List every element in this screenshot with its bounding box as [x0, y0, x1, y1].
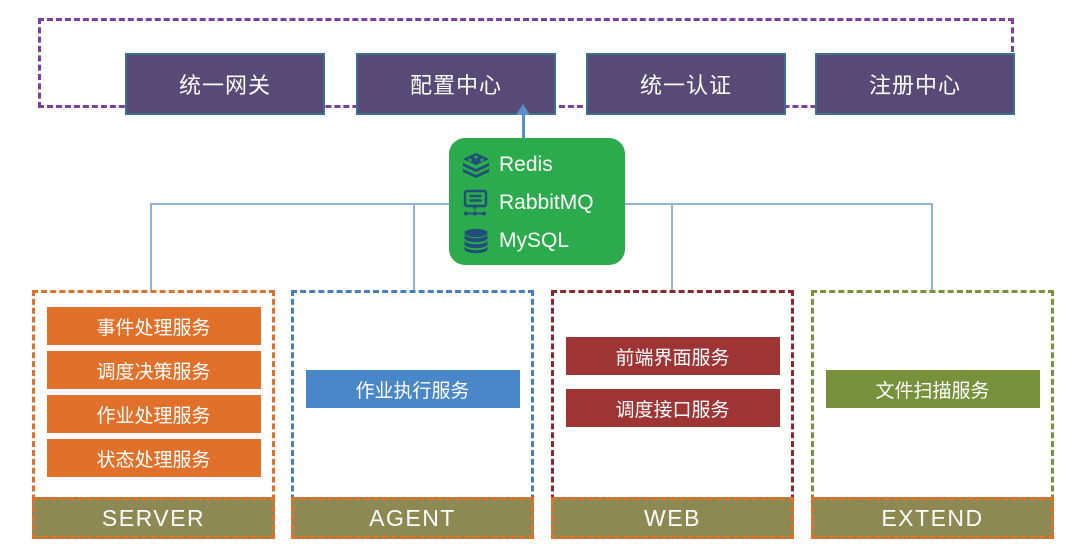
service-box[interactable]: 调度决策服务 [47, 351, 261, 389]
platform-box-unified-auth[interactable]: 统一认证 [586, 53, 786, 115]
platform-box-registry-center[interactable]: 注册中心 [815, 53, 1015, 115]
group-footer-label: EXTEND [881, 505, 983, 532]
group-footer-label: WEB [644, 505, 701, 532]
service-label: 事件处理服务 [96, 313, 210, 340]
service-label: 作业处理服务 [96, 401, 210, 428]
group-footer-agent: AGENT [291, 497, 534, 539]
service-label: 状态处理服务 [96, 445, 210, 472]
arrow-up-shaft [522, 110, 525, 138]
service-box[interactable]: 调度接口服务 [566, 389, 780, 427]
group-footer-web: WEB [551, 497, 794, 539]
service-label: 文件扫描服务 [875, 376, 989, 403]
platform-layer-frame: 统一网关 配置中心 统一认证 注册中心 [38, 18, 1014, 108]
platform-box-label: 统一认证 [640, 68, 732, 100]
group-server-services: 事件处理服务 调度决策服务 作业处理服务 状态处理服务 [35, 293, 272, 485]
connector-horizontal-left-inner [413, 203, 451, 205]
middleware-label-redis: Redis [499, 153, 553, 177]
middleware-box[interactable]: Redis [449, 138, 625, 265]
service-box[interactable]: 前端界面服务 [566, 337, 780, 375]
connector-vertical-extend [931, 203, 933, 291]
service-label: 调度接口服务 [615, 395, 729, 422]
service-label: 前端界面服务 [615, 343, 729, 370]
message-queue-icon [459, 187, 493, 219]
group-footer-server: SERVER [32, 497, 275, 539]
group-server[interactable]: 事件处理服务 调度决策服务 作业处理服务 状态处理服务 SERVER [32, 290, 275, 536]
group-footer-label: AGENT [369, 505, 456, 532]
platform-box-label: 配置中心 [410, 68, 502, 100]
connector-vertical-server [150, 203, 152, 291]
connector-vertical-web [671, 203, 673, 291]
group-footer-extend: EXTEND [811, 497, 1054, 539]
service-box[interactable]: 作业处理服务 [47, 395, 261, 433]
group-agent[interactable]: 作业执行服务 AGENT [291, 290, 534, 536]
service-box[interactable]: 文件扫描服务 [826, 370, 1040, 408]
middleware-item-redis: Redis [459, 147, 625, 183]
service-label: 调度决策服务 [96, 357, 210, 384]
group-extend[interactable]: 文件扫描服务 EXTEND [811, 290, 1054, 536]
service-box[interactable]: 事件处理服务 [47, 307, 261, 345]
service-label: 作业执行服务 [355, 376, 469, 403]
connector-horizontal-right [671, 203, 931, 205]
group-extend-services: 文件扫描服务 [814, 293, 1051, 485]
group-agent-services: 作业执行服务 [294, 293, 531, 485]
architecture-diagram: 统一网关 配置中心 统一认证 注册中心 [0, 0, 1080, 545]
group-footer-label: SERVER [102, 505, 205, 532]
middleware-item-rabbitmq: RabbitMQ [459, 185, 625, 221]
service-box[interactable]: 状态处理服务 [47, 439, 261, 477]
connector-horizontal-left [150, 203, 413, 205]
platform-box-label: 统一网关 [179, 68, 271, 100]
platform-box-unified-gateway[interactable]: 统一网关 [125, 53, 325, 115]
stack-layers-icon [459, 149, 493, 181]
connector-vertical-agent [413, 203, 415, 291]
platform-box-label: 注册中心 [869, 68, 961, 100]
database-cylinder-icon [459, 225, 493, 257]
service-box[interactable]: 作业执行服务 [306, 370, 520, 408]
connector-horizontal-right-inner [623, 203, 671, 205]
group-web-services: 前端界面服务 调度接口服务 [554, 293, 791, 485]
middleware-label-rabbitmq: RabbitMQ [499, 191, 594, 215]
middleware-label-mysql: MySQL [499, 229, 569, 253]
middleware-item-mysql: MySQL [459, 223, 625, 259]
group-web[interactable]: 前端界面服务 调度接口服务 WEB [551, 290, 794, 536]
